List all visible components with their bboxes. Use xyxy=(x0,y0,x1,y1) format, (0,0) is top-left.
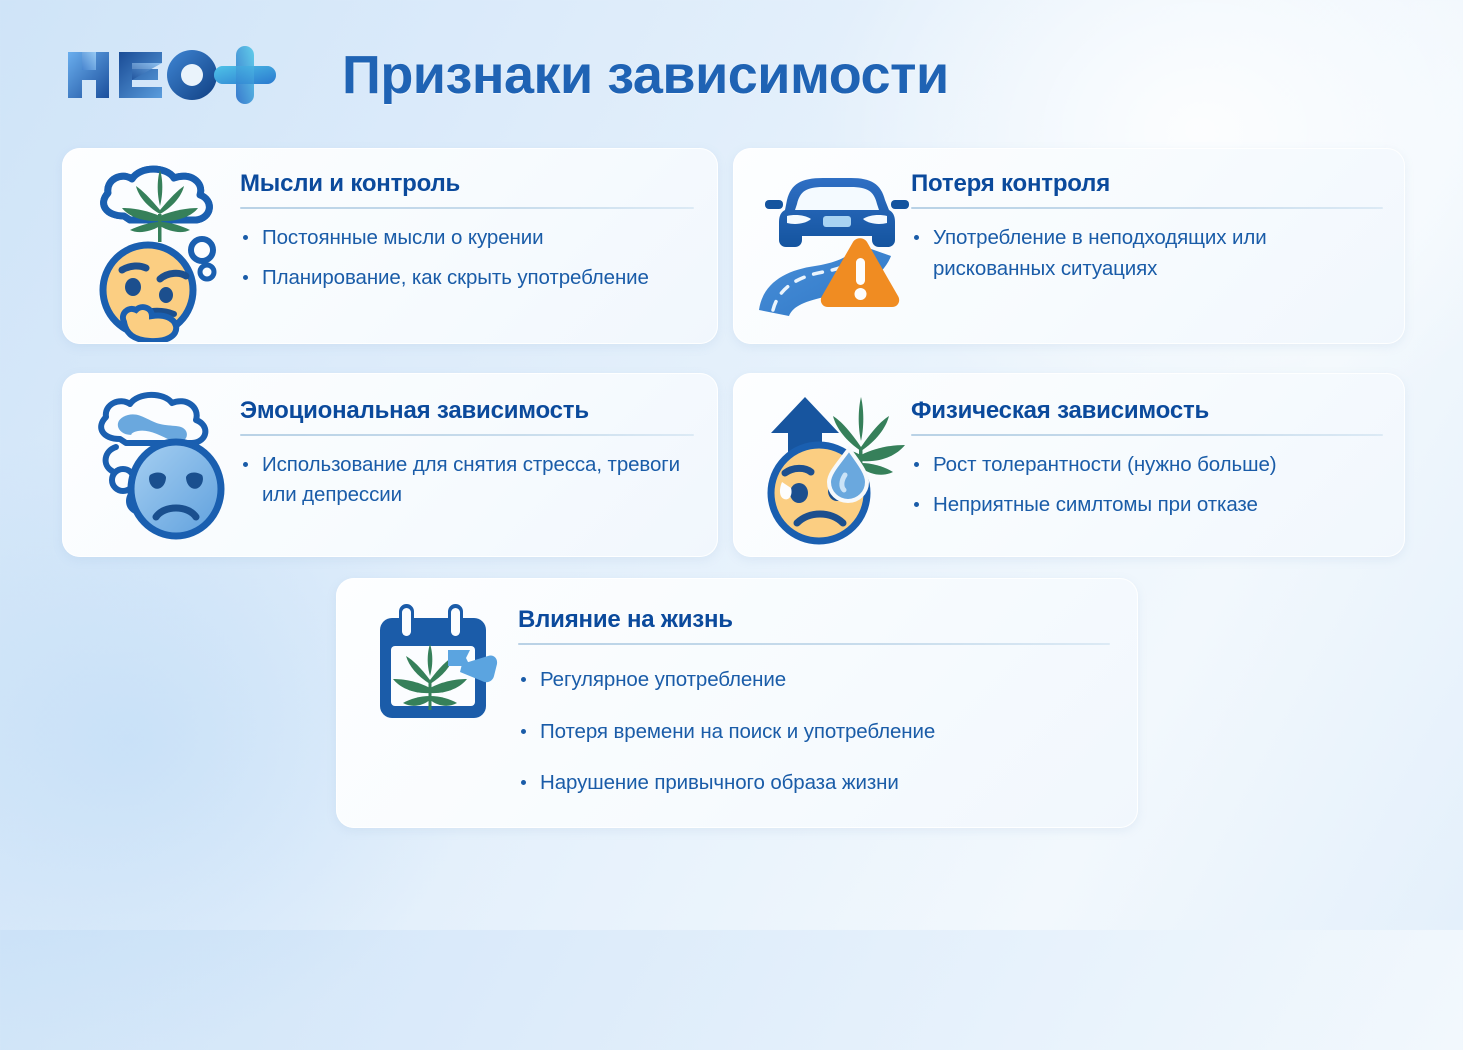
card-heading: Мысли и контроль xyxy=(240,170,694,198)
bullet-list: Регулярное употребление Потеря времени н… xyxy=(518,665,1110,798)
list-item: Планирование, как скрыть употребление xyxy=(240,263,694,293)
card-divider xyxy=(911,434,1383,436)
list-item: Нарушение привычного образа жизни xyxy=(518,768,1110,798)
bullet-list: Рост толерантности (нужно больше) Неприя… xyxy=(911,450,1383,519)
card-body: Мысли и контроль Постоянные мысли о куре… xyxy=(240,170,694,292)
car-road-warning-icon xyxy=(757,170,909,325)
list-item: Употребление в неподходящих или рискован… xyxy=(911,223,1383,285)
card-divider xyxy=(240,434,694,436)
list-item: Использование для снятия стресса, тревог… xyxy=(240,450,694,509)
card-heading: Потеря контроля xyxy=(911,170,1383,198)
card-divider xyxy=(240,207,694,209)
calendar-cannabis-icon xyxy=(374,602,504,729)
card-body: Влияние на жизнь Регулярное употребление… xyxy=(518,606,1110,820)
page-header: Признаки зависимости xyxy=(0,0,1463,140)
card-body: Потеря контроля Употребление в неподходя… xyxy=(911,170,1383,285)
bullet-list: Использование для снятия стресса, тревог… xyxy=(240,450,694,509)
neo-plus-logo xyxy=(62,44,292,106)
card-heading: Физическая зависимость xyxy=(911,397,1383,425)
sad-face-thought-cloud-icon xyxy=(86,391,236,546)
card-emotional-dependence[interactable]: Эмоциональная зависимость Использование … xyxy=(62,373,718,557)
list-item: Рост толерантности (нужно больше) xyxy=(911,450,1383,480)
list-item: Постоянные мысли о курении xyxy=(240,223,694,253)
list-item: Неприятные симлтомы при отказе xyxy=(911,490,1383,520)
card-body: Физическая зависимость Рост толерантност… xyxy=(911,397,1383,519)
bullet-list: Постоянные мысли о курении Планирование,… xyxy=(240,223,694,292)
list-item: Потеря времени на поиск и употребление xyxy=(518,717,1110,747)
card-body: Эмоциональная зависимость Использование … xyxy=(240,397,694,509)
card-heading: Эмоциональная зависимость xyxy=(240,397,694,425)
card-divider xyxy=(911,207,1383,209)
page-title: Признаки зависимости xyxy=(342,44,949,106)
card-physical-dependence[interactable]: Физическая зависимость Рост толерантност… xyxy=(733,373,1405,557)
list-item: Регулярное употребление xyxy=(518,665,1110,695)
bullet-list: Употребление в неподходящих или рискован… xyxy=(911,223,1383,285)
card-loss-of-control[interactable]: Потеря контроля Употребление в неподходя… xyxy=(733,148,1405,344)
card-impact-on-life[interactable]: Влияние на жизнь Регулярное употребление… xyxy=(336,578,1138,828)
card-divider xyxy=(518,643,1110,645)
thinking-face-cannabis-thought-icon xyxy=(86,164,236,344)
sweating-face-arrow-cannabis-icon xyxy=(757,387,917,550)
card-thoughts-and-control[interactable]: Мысли и контроль Постоянные мысли о куре… xyxy=(62,148,718,344)
card-heading: Влияние на жизнь xyxy=(518,606,1110,634)
